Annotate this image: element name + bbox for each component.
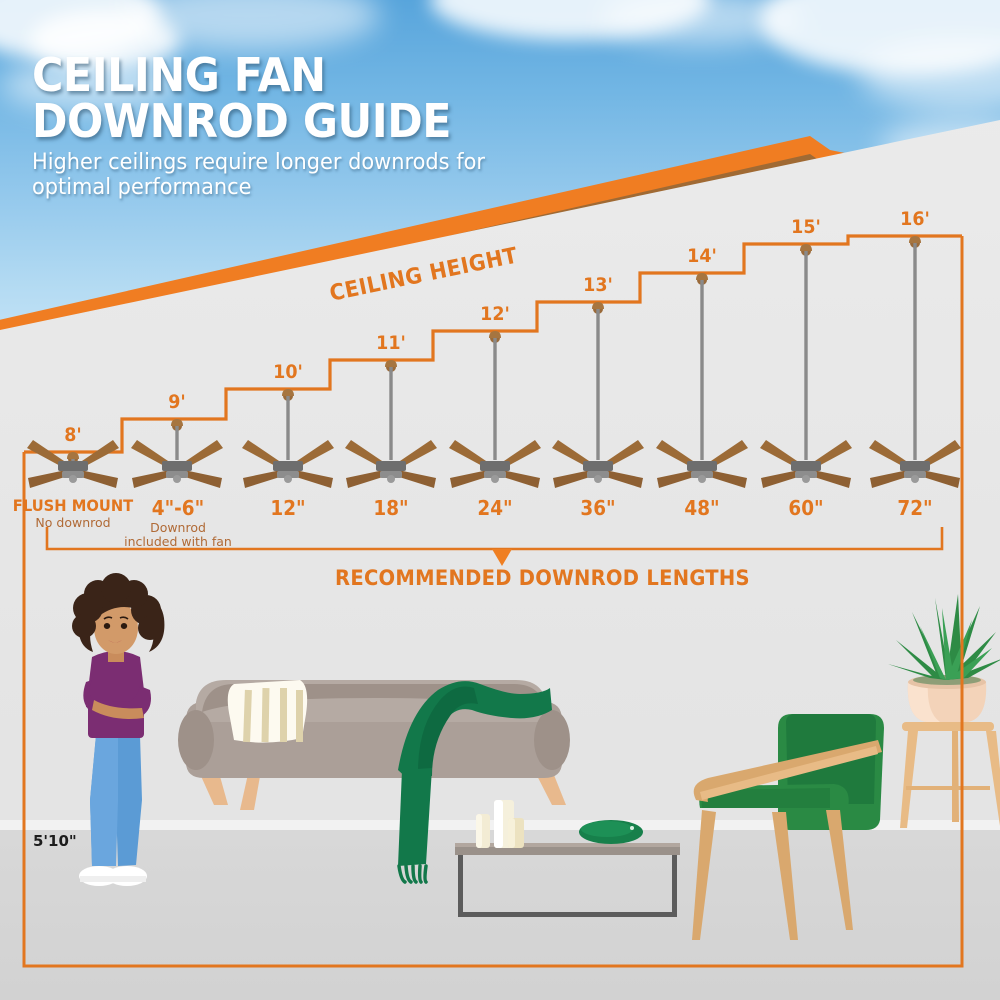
person-figure [72, 573, 164, 886]
title-line-1: CEILING FAN [32, 52, 553, 98]
ceiling-height-9: 9' [159, 391, 196, 413]
plant-stand [900, 722, 1000, 828]
ceiling-height-16: 16' [894, 208, 936, 230]
downrod-length-5: 24" [451, 496, 539, 520]
ceiling-height-15: 15' [785, 216, 827, 238]
infographic-canvas: CEILING FAN DOWNROD GUIDE Higher ceiling… [0, 0, 1000, 1000]
candles [476, 800, 524, 848]
ceiling-height-13: 13' [577, 274, 619, 296]
green-lounge-chair [692, 714, 884, 940]
page-title: CEILING FAN DOWNROD GUIDE Higher ceiling… [32, 52, 592, 200]
potted-plant [888, 594, 1000, 722]
person-height-label: 5'10" [33, 832, 77, 850]
downrod-label-4: 18" [343, 496, 439, 520]
downrod-label-3: 12" [240, 496, 336, 520]
title-line-2: DOWNROD GUIDE [32, 98, 553, 144]
downrod-label-6: 36" [550, 496, 646, 520]
downrod-label-9: 72" [867, 496, 963, 520]
ceiling-height-10: 10' [267, 361, 309, 383]
ceiling-height-14: 14' [681, 245, 723, 267]
downrod-length-9: 72" [871, 496, 959, 520]
subtitle: Higher ceilings require longer downrods … [32, 150, 564, 200]
downrod-length-6: 36" [554, 496, 642, 520]
downrod-label-7: 48" [654, 496, 750, 520]
ceiling-height-8: 8' [55, 424, 92, 446]
downrod-label-2: 4"-6" Downrod included with fan [110, 496, 246, 549]
ceiling-height-12: 12' [474, 303, 516, 325]
downrod-label-8: 60" [758, 496, 854, 520]
downrod-label-5: 24" [447, 496, 543, 520]
downrod-length-2: 4"-6" [115, 496, 240, 520]
downrod-length-8: 60" [762, 496, 850, 520]
downrod-note-2: Downrod included with fan [110, 521, 246, 549]
ceiling-height-11: 11' [370, 332, 412, 354]
coffee-table [455, 800, 680, 917]
downrod-length-7: 48" [658, 496, 746, 520]
downrod-length-3: 12" [244, 496, 332, 520]
recommended-downrod-lengths-label: RECOMMENDED DOWNROD LENGTHS [335, 566, 750, 590]
striped-pillow [228, 680, 307, 743]
downrod-length-4: 18" [347, 496, 435, 520]
